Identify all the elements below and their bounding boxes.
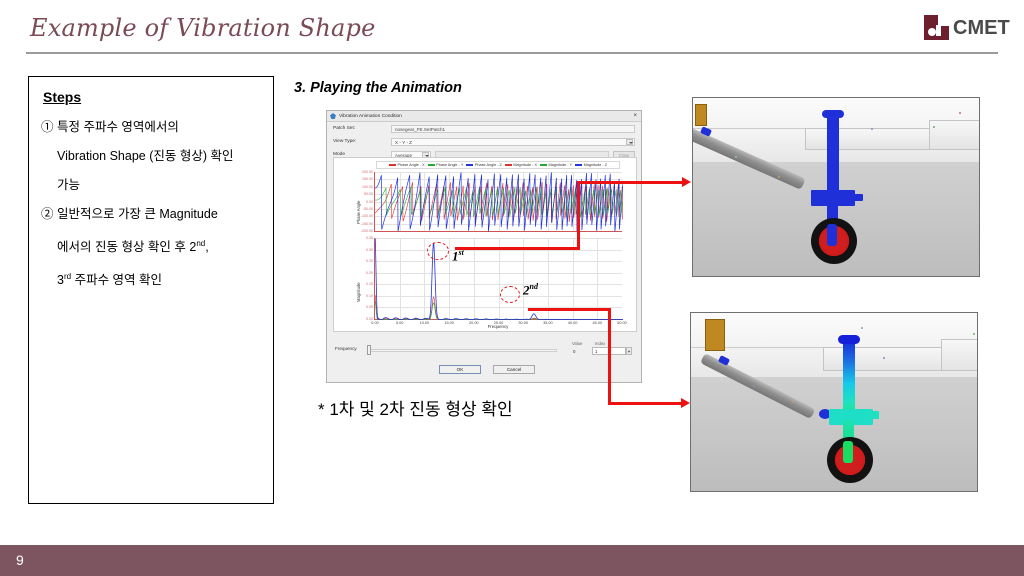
phase-ytick-0: 200.00	[362, 170, 373, 174]
step-line-4-text: ② 일반적으로 가장 큰 Magnitude	[41, 207, 218, 221]
step-line-4: ② 일반적으로 가장 큰 Magnitude	[39, 200, 263, 229]
mag-ytick-3: 0.20	[366, 271, 373, 275]
patch-set-label: Patch Set:	[333, 126, 391, 131]
phase-ytick-8: -200.00	[361, 229, 373, 233]
x-axis-title: Frequency	[374, 324, 622, 329]
dialog-row-patch-set: Patch Set: nosegear_FE.SetPatch1	[327, 122, 641, 135]
index-stepper[interactable]	[626, 347, 632, 355]
index-header: Index	[595, 341, 605, 346]
view-type-select[interactable]: X - Y - Z	[391, 138, 635, 146]
second-peak-label: 2nd	[523, 282, 538, 298]
chevron-down-icon[interactable]	[626, 139, 633, 145]
step-line-3: 가능	[39, 171, 263, 200]
connector1-seg3	[577, 181, 683, 184]
dialog-title: Vibration Animation Condition	[339, 114, 402, 119]
step-line-2: Vibration Shape (진동 형상) 확인	[39, 142, 263, 171]
legend-item-0: Phase Angle - X	[389, 163, 425, 167]
slide-footer: 9	[0, 545, 1024, 576]
cmet-logo: CMET	[924, 14, 1022, 42]
legend-swatch-icon	[505, 164, 512, 165]
frequency-slider-thumb[interactable]	[367, 345, 371, 355]
chart-legend: Phase Angle - X Phase Angle - Y Phase An…	[376, 161, 620, 169]
mag-ytick-2: 0.25	[366, 259, 373, 263]
view-type-label: View Type:	[333, 139, 391, 144]
slide-canvas: Example of Vibration Shape CMET Steps ① …	[0, 0, 1024, 576]
phase-ytick-4: 0.00	[366, 200, 373, 204]
connector2-arrowhead	[681, 398, 690, 408]
section-heading: 3. Playing the Animation	[294, 80, 462, 96]
steps-heading: Steps	[39, 89, 263, 105]
slide-header: Example of Vibration Shape CMET	[0, 0, 1024, 58]
legend-label-1: Phase Angle - Y	[436, 163, 463, 167]
axle-nub	[867, 411, 879, 419]
phase-ytick-2: 100.00	[362, 185, 373, 189]
bay-door-gold	[705, 319, 725, 351]
mag-ytick-4: 0.15	[366, 282, 373, 286]
connector2-seg3	[608, 402, 683, 405]
patch-set-field[interactable]: nosegear_FE.SetPatch1	[391, 125, 635, 133]
step-line-5-sup: nd	[196, 239, 205, 248]
legend-label-3: Magnitude - X	[513, 163, 537, 167]
ok-button[interactable]: OK	[439, 365, 481, 374]
mag-ytick-1: 0.30	[366, 248, 373, 252]
second-mode-shape-view[interactable]	[690, 312, 978, 492]
connector2-seg2	[608, 308, 611, 405]
legend-label-0: Phase Angle - X	[397, 163, 424, 167]
step-line-5-text: 에서의 진동 형상 확인 후 2	[57, 240, 196, 254]
dialog-app-icon	[330, 113, 336, 119]
step-line-1: ① 특정 주파수 영역에서의	[39, 113, 263, 142]
magnitude-axis-title: Magnitude	[356, 258, 361, 302]
connector1-arrowhead	[682, 177, 691, 187]
step-line-6: 3rd 주파수 영역 확인	[39, 262, 263, 295]
strut-top-cap	[822, 110, 844, 118]
phase-ytick-5: -50.00	[363, 207, 373, 211]
wing-panel	[941, 339, 978, 371]
strut-into-wheel	[827, 224, 837, 246]
connector2-seg1	[528, 308, 611, 311]
value-number: 0	[573, 349, 575, 354]
legend-item-1: Phase Angle - Y	[428, 163, 464, 167]
dialog-bottom-controls: Frequency Value 0 Index 1 OK Cancel	[327, 337, 643, 384]
page-title: Example of Vibration Shape	[30, 14, 376, 42]
legend-item-5: Magnitude - Z	[575, 163, 607, 167]
strut-into-wheel	[843, 441, 853, 463]
legend-label-5: Magnitude - Z	[584, 163, 607, 167]
mag-ytick-6: 0.05	[366, 305, 373, 309]
phase-ytick-7: -150.00	[361, 222, 373, 226]
legend-swatch-icon	[575, 164, 582, 165]
legend-swatch-icon	[389, 164, 396, 165]
legend-item-3: Magnitude - X	[505, 163, 537, 167]
cancel-button[interactable]: Cancel	[493, 365, 535, 374]
wing-panel	[929, 120, 980, 150]
mag-ytick-0: 0.35	[366, 236, 373, 240]
mag-ytick-5: 0.10	[366, 294, 373, 298]
view-type-value: X - Y - Z	[395, 140, 412, 145]
title-divider	[26, 52, 998, 54]
connector1-seg2	[577, 181, 580, 250]
first-peak-marker	[427, 242, 449, 260]
steps-box: Steps ① 특정 주파수 영역에서의 Vibration Shape (진동…	[28, 76, 274, 504]
legend-item-4: Magnitude - Y	[540, 163, 572, 167]
frequency-slider[interactable]	[367, 349, 557, 352]
second-peak-marker	[500, 286, 520, 303]
dialog-titlebar[interactable]: Vibration Animation Condition ×	[327, 111, 641, 122]
frequency-label: Frequency	[335, 346, 357, 351]
step-line-5: 에서의 진동 형상 확인 후 2nd,	[39, 229, 263, 262]
close-icon[interactable]: ×	[633, 113, 637, 120]
first-mode-shape-view[interactable]	[692, 97, 980, 277]
legend-swatch-icon	[428, 164, 435, 165]
legend-swatch-icon	[540, 164, 547, 165]
cmet-logo-mark-icon	[924, 15, 949, 40]
page-number: 9	[16, 552, 24, 568]
phase-ytick-3: 50.00	[364, 192, 373, 196]
value-header: Value	[572, 341, 582, 346]
legend-label-2: Phase Angle - Z	[475, 163, 502, 167]
bay-door-gold	[695, 104, 707, 126]
logo-wordmark: CMET	[953, 17, 1010, 40]
first-peak-label: 1st	[452, 248, 464, 264]
caption-text: * 1차 및 2차 진동 형상 확인	[318, 395, 513, 420]
phase-ytick-1: 150.00	[362, 177, 373, 181]
connector1-seg1	[455, 247, 580, 250]
legend-item-2: Phase Angle - Z	[466, 163, 502, 167]
phase-ytick-6: -100.00	[361, 214, 373, 218]
step-line-6-sup: rd	[64, 272, 71, 281]
step-line-6-lead: 3	[57, 273, 64, 287]
axle-nub	[851, 194, 863, 201]
legend-label-4: Magnitude - Y	[549, 163, 573, 167]
legend-swatch-icon	[466, 164, 473, 165]
step-line-6-text: 주파수 영역 확인	[75, 273, 162, 287]
dialog-row-view-type: View Type: X - Y - Z	[327, 135, 641, 148]
strut-top-cap	[838, 335, 860, 344]
